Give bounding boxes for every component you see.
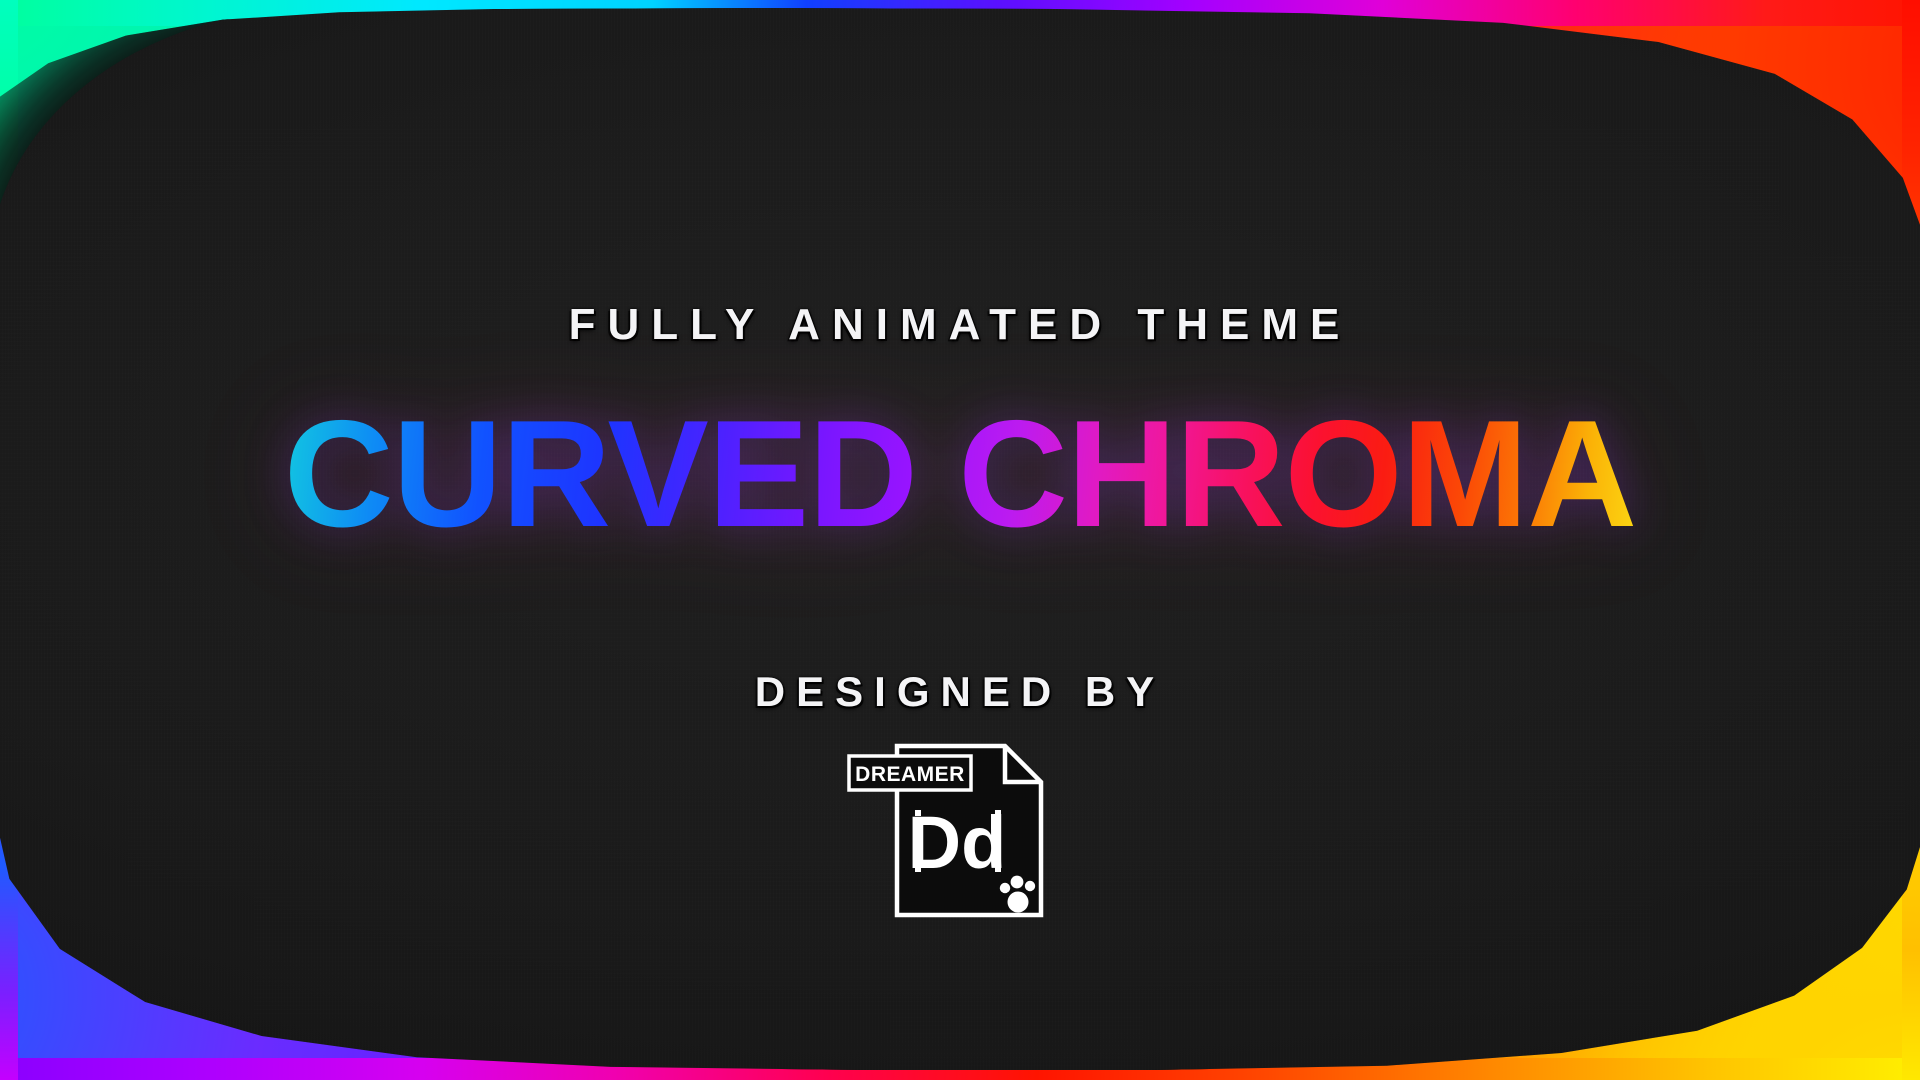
dreamer-badge-label: DREAMER [855,763,965,786]
dreamer-logo-svg: Dd DREAMER [845,738,1075,923]
dreamer-logo[interactable]: Dd DREAMER [845,738,1075,923]
designed-by-label: DESIGNED BY [755,668,1165,716]
kicker-text: FULLY ANIMATED THEME [569,300,1352,350]
dreamer-badge: DREAMER [849,756,971,790]
poster-canvas: FULLY ANIMATED THEME CURVED CHROMA DESIG… [0,0,1920,1080]
logo-monogram-text: Dd [908,801,1007,884]
poster-content: FULLY ANIMATED THEME CURVED CHROMA DESIG… [0,0,1920,1080]
headline-title: CURVED CHROMA [284,398,1636,550]
